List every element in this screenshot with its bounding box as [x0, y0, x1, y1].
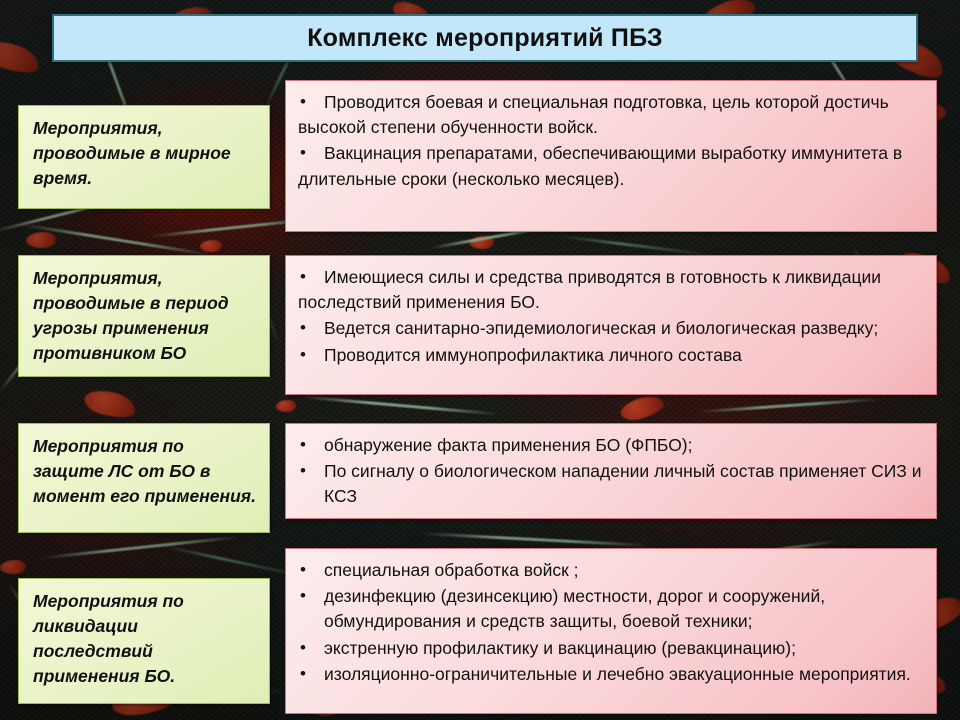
- list-item-text: Имеющиеся силы и средства приводятся в г…: [298, 267, 881, 312]
- bullet-icon: •: [300, 584, 306, 608]
- description-list-2: • Имеющиеся силы и средства приводятся в…: [298, 265, 924, 368]
- list-item-text: экстренную профилактику и вакцинацию (ре…: [324, 636, 924, 661]
- bullet-icon: •: [300, 558, 306, 582]
- slide-canvas: Комплекс мероприятий ПБЗ Мероприятия, пр…: [0, 0, 960, 720]
- list-item-text: Проводится иммунопрофилактика личного со…: [324, 345, 742, 365]
- bullet-icon: •: [300, 636, 306, 660]
- category-box-2: Мероприятия, проводимые в период угрозы …: [18, 255, 270, 377]
- list-item-text: специальная обработка войск ;: [324, 558, 924, 583]
- description-box-1: • Проводится боевая и специальная подгот…: [285, 80, 937, 232]
- list-item: • Ведется санитарно-эпидемиологическая и…: [298, 316, 924, 341]
- list-item: • обнаружение факта применения БО (ФПБО)…: [298, 433, 924, 458]
- bullet-icon: •: [300, 265, 306, 289]
- description-list-1: • Проводится боевая и специальная подгот…: [298, 90, 924, 192]
- description-box-4: • специальная обработка войск ; • дезинф…: [285, 548, 937, 714]
- category-box-1: Мероприятия, проводимые в мирное время.: [18, 105, 270, 209]
- list-item-text: По сигналу о биологическом нападении лич…: [324, 459, 924, 509]
- page-title: Комплекс мероприятий ПБЗ: [307, 24, 663, 53]
- list-item: • По сигналу о биологическом нападении л…: [298, 459, 924, 509]
- description-list-3: • обнаружение факта применения БО (ФПБО)…: [298, 433, 924, 510]
- category-box-4: Мероприятия по ликвидации последствий пр…: [18, 578, 270, 704]
- bullet-icon: •: [300, 433, 306, 457]
- category-label-3: Мероприятия по защите ЛС от БО в момент …: [33, 434, 259, 509]
- bullet-icon: •: [300, 662, 306, 686]
- list-item-text: Проводится боевая и специальная подготов…: [298, 92, 889, 137]
- description-list-4: • специальная обработка войск ; • дезинф…: [298, 558, 924, 687]
- list-item: • Имеющиеся силы и средства приводятся в…: [298, 265, 924, 315]
- list-item-text: изоляционно-ограничительные и лечебно эв…: [324, 664, 911, 684]
- list-item: • Вакцинация препаратами, обеспечивающим…: [298, 141, 924, 191]
- list-item-text: Вакцинация препаратами, обеспечивающими …: [298, 143, 902, 188]
- category-label-2: Мероприятия, проводимые в период угрозы …: [33, 266, 259, 365]
- bullet-icon: •: [300, 343, 306, 367]
- list-item-text: Ведется санитарно-эпидемиологическая и б…: [324, 318, 878, 338]
- list-item: • экстренную профилактику и вакцинацию (…: [298, 636, 924, 661]
- description-box-3: • обнаружение факта применения БО (ФПБО)…: [285, 423, 937, 519]
- list-item-text: дезинфекцию (дезинсекцию) местности, дор…: [324, 584, 924, 634]
- bullet-icon: •: [300, 459, 306, 483]
- list-item-text: обнаружение факта применения БО (ФПБО);: [324, 433, 924, 458]
- slide-title-bar: Комплекс мероприятий ПБЗ: [52, 14, 918, 62]
- bullet-icon: •: [300, 316, 306, 340]
- bullet-icon: •: [300, 90, 306, 114]
- list-item: • дезинфекцию (дезинсекцию) местности, д…: [298, 584, 924, 634]
- category-label-1: Мероприятия, проводимые в мирное время.: [33, 116, 259, 191]
- list-item: • Проводится иммунопрофилактика личного …: [298, 343, 924, 368]
- category-box-3: Мероприятия по защите ЛС от БО в момент …: [18, 423, 270, 533]
- description-box-2: • Имеющиеся силы и средства приводятся в…: [285, 255, 937, 395]
- list-item: • Проводится боевая и специальная подгот…: [298, 90, 924, 140]
- bullet-icon: •: [300, 141, 306, 165]
- category-label-4: Мероприятия по ликвидации последствий пр…: [33, 589, 259, 688]
- list-item: • специальная обработка войск ;: [298, 558, 924, 583]
- list-item: • изоляционно-ограничительные и лечебно …: [298, 662, 924, 687]
